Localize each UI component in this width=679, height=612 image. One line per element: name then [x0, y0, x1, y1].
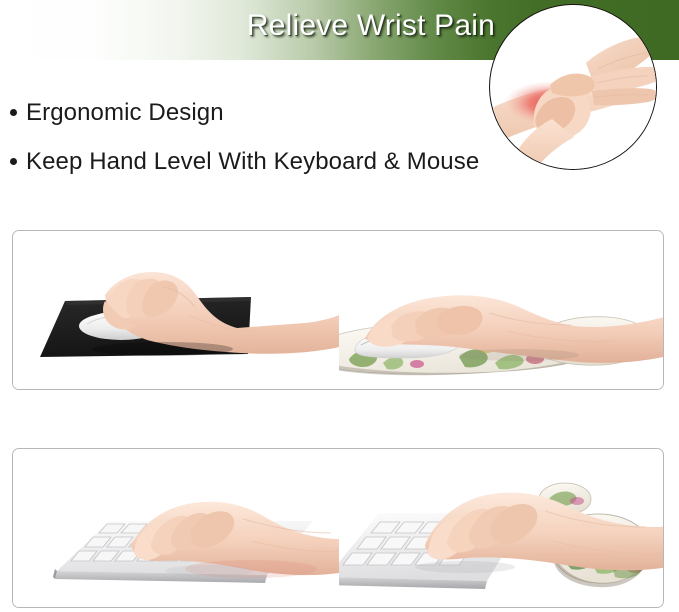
keyboard-no-rest-illustration [13, 449, 339, 607]
comparison-panel-mouse [12, 230, 664, 390]
feature-bullet-list: Ergonomic Design Keep Hand Level With Ke… [10, 100, 480, 198]
bullet-dot-icon [10, 109, 17, 116]
bullet-label: Keep Hand Level With Keyboard & Mouse [26, 149, 479, 174]
wrist-pain-illustration [490, 5, 657, 170]
bullet-label: Ergonomic Design [26, 100, 224, 125]
photo-mouse-with-floral-wrist-rest [339, 231, 664, 389]
photo-mouse-without-wrist-rest [13, 231, 339, 389]
photo-keyboard-with-floral-wrist-rest [339, 449, 664, 607]
page-title: Relieve Wrist Pain [0, 9, 495, 43]
list-item: Ergonomic Design [10, 100, 480, 125]
mouse-with-rest-illustration [339, 231, 664, 389]
comparison-panel-keyboard [12, 448, 664, 608]
bullet-dot-icon [10, 158, 17, 165]
mouse-no-rest-illustration [13, 231, 339, 389]
list-item: Keep Hand Level With Keyboard & Mouse [10, 149, 480, 174]
keyboard-with-rest-illustration [339, 449, 664, 607]
wrist-pain-photo [489, 4, 657, 170]
photo-keyboard-without-wrist-rest [13, 449, 339, 607]
